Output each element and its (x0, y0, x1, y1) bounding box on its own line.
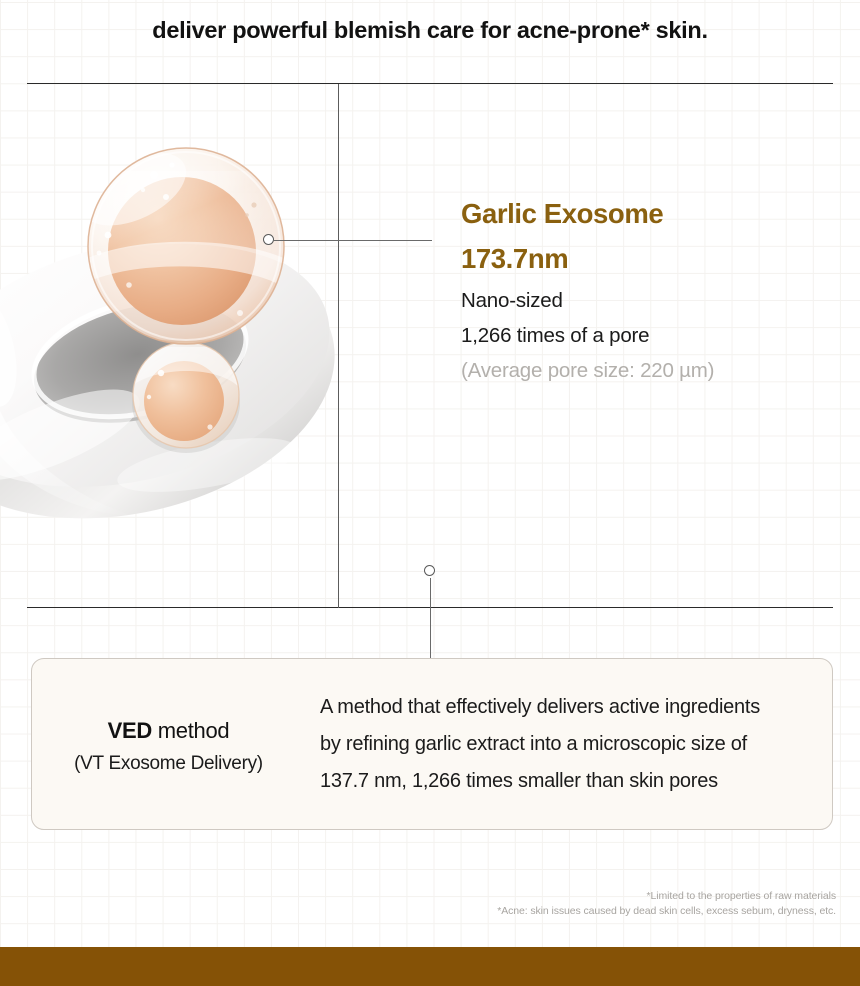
exosome-size: 173.7nm (461, 242, 851, 275)
ved-method-card: VED method (VT Exosome Delivery) A metho… (31, 658, 833, 830)
exosome-pore-note: (Average pore size: 220 µm) (461, 358, 851, 384)
exosome-subtitle-nano: Nano-sized (461, 288, 851, 314)
exosome-subtitle-pore: 1,266 times of a pore (461, 323, 851, 349)
brand-bar (0, 947, 860, 986)
exosome-title: Garlic Exosome (461, 197, 851, 230)
ved-description-line: 137.7 nm, 1,266 times smaller than skin … (320, 763, 818, 800)
ved-title-strong: VED (108, 718, 152, 743)
footnote-item: *Acne: skin issues caused by dead skin c… (497, 904, 836, 919)
garlic-exosome-3d-illustration (0, 135, 398, 555)
divider-rule-top (27, 83, 833, 84)
circle-marker-icon-ved (424, 565, 435, 576)
ved-title: VED method (32, 716, 305, 745)
ved-leader-line (430, 578, 431, 658)
exosome-leader-line (274, 240, 432, 241)
ved-description-line: by refining garlic extract into a micros… (320, 726, 818, 763)
ved-title-rest: method (152, 718, 229, 743)
exosome-info-block: Garlic Exosome 173.7nm Nano-sized 1,266 … (461, 197, 851, 384)
ved-card-left: VED method (VT Exosome Delivery) (32, 712, 305, 777)
ved-card-right: A method that effectively delivers activ… (305, 689, 832, 800)
page-headline: deliver powerful blemish care for acne-p… (0, 17, 860, 44)
footnotes: *Limited to the properties of raw materi… (497, 889, 836, 919)
infographic-page: deliver powerful blemish care for acne-p… (0, 0, 860, 986)
ved-subtitle: (VT Exosome Delivery) (32, 751, 305, 777)
footnote-item: *Limited to the properties of raw materi… (497, 889, 836, 904)
circle-marker-icon (263, 234, 274, 245)
ved-description-line: A method that effectively delivers activ… (320, 689, 818, 726)
